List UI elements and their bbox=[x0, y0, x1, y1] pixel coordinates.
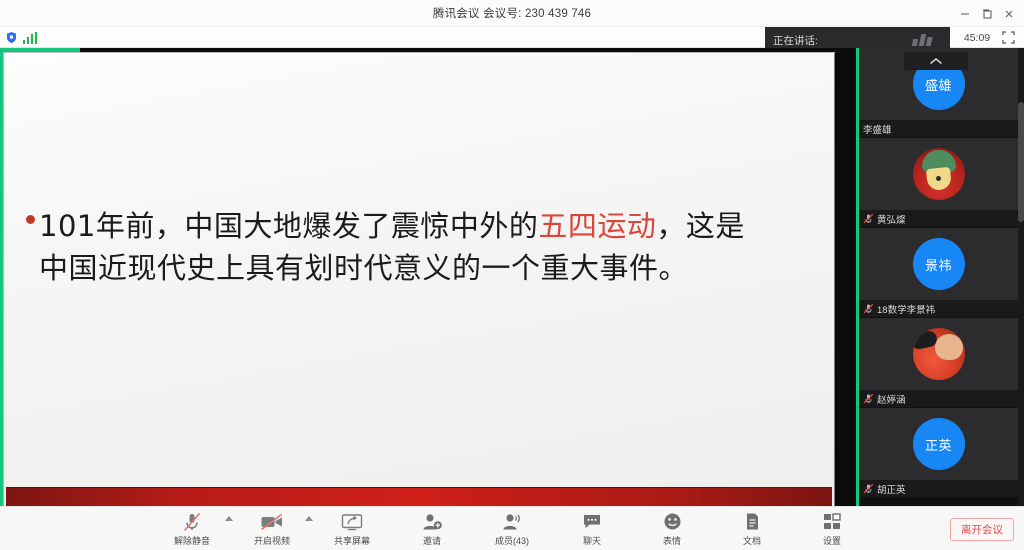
toolbar-item-label: 共享屏幕 bbox=[334, 534, 370, 547]
chat-bubble-icon bbox=[582, 512, 602, 532]
list-item[interactable]: 黄弘燦 bbox=[859, 138, 1018, 227]
page-title: 腾讯会议 会议号: 230 439 746 bbox=[433, 5, 591, 21]
list-item[interactable]: 正英 胡正英 bbox=[859, 408, 1018, 497]
settings-grid-icon bbox=[823, 512, 841, 532]
toolbar-item-label: 成员(43) bbox=[495, 534, 529, 547]
document-icon bbox=[744, 512, 761, 532]
participant-name: 黄弘燦 bbox=[877, 212, 906, 226]
toolbar-item-label: 解除静音 bbox=[174, 534, 210, 547]
participant-name-bar: 李盛雄 bbox=[859, 120, 1018, 137]
slide-text-highlight: 五四运动 bbox=[538, 209, 656, 243]
maximize-button[interactable] bbox=[976, 3, 998, 25]
toolbar-item-label: 设置 bbox=[823, 534, 841, 547]
avatar bbox=[859, 138, 1018, 210]
toolbar-item-label: 邀请 bbox=[423, 534, 441, 547]
close-button[interactable] bbox=[998, 3, 1020, 25]
participant-name: 赵婷涵 bbox=[877, 392, 906, 406]
slide-background bbox=[4, 53, 834, 536]
microphone-muted-icon bbox=[863, 483, 874, 494]
shared-screen-area[interactable]: 101年前，中国大地爆发了震惊中外的五四运动，这是中国近现代史上具有划时代意义的… bbox=[0, 48, 856, 506]
settings-button[interactable]: 设置 bbox=[803, 508, 861, 550]
speaking-label: 正在讲话: bbox=[773, 33, 818, 48]
signal-bars-icon bbox=[23, 32, 37, 44]
microphone-muted-icon bbox=[863, 303, 874, 314]
invite-button[interactable]: 邀请 bbox=[403, 508, 461, 550]
avatar: 景祎 bbox=[859, 228, 1018, 300]
slide-paragraph: 101年前，中国大地爆发了震惊中外的五四运动，这是中国近现代史上具有划时代意义的… bbox=[39, 205, 762, 289]
window-controls bbox=[954, 0, 1020, 27]
participants-button[interactable]: 成员(43) bbox=[483, 508, 541, 550]
participant-name-bar: 赵婷涵 bbox=[859, 390, 1018, 407]
share-screen-button[interactable]: 共享屏幕 bbox=[323, 508, 381, 550]
participant-name: 胡正英 bbox=[877, 482, 906, 496]
toolbar-item-label: 文档 bbox=[743, 534, 761, 547]
video-toggle-button[interactable]: 开启视频 bbox=[243, 508, 301, 550]
chevron-up-icon[interactable] bbox=[305, 516, 313, 521]
bullet-dot-icon bbox=[26, 215, 35, 224]
meeting-toolbar: 解除静音 开启视频 bbox=[0, 506, 1024, 550]
video-off-icon bbox=[260, 512, 284, 532]
toolbar-item-label: 开启视频 bbox=[254, 534, 290, 547]
meeting-window: 腾讯会议 会议号: 230 439 746 正在讲话: bbox=[0, 0, 1024, 550]
list-item[interactable]: 赵婷涵 bbox=[859, 318, 1018, 407]
microphone-muted-icon bbox=[863, 393, 874, 404]
avatar-initials: 景祎 bbox=[913, 238, 965, 290]
presentation-slide: 101年前，中国大地爆发了震惊中外的五四运动，这是中国近现代史上具有划时代意义的… bbox=[4, 53, 834, 536]
slide-edge-shadow bbox=[834, 53, 839, 536]
emoji-button[interactable]: 表情 bbox=[643, 508, 701, 550]
list-item[interactable]: 景祎 18数学李景祎 bbox=[859, 228, 1018, 317]
leave-meeting-button[interactable]: 离开会议 bbox=[950, 518, 1014, 541]
participant-name: 18数学李景祎 bbox=[877, 302, 935, 316]
participants-icon bbox=[502, 512, 522, 532]
emoji-icon bbox=[663, 512, 682, 532]
avatar: 正英 bbox=[859, 408, 1018, 480]
meeting-timer: 45:09 bbox=[958, 30, 996, 45]
toolbar-item-label: 聊天 bbox=[583, 534, 601, 547]
participant-name: 李盛雄 bbox=[863, 122, 892, 136]
invite-user-icon bbox=[422, 512, 442, 532]
chevron-up-icon[interactable] bbox=[904, 52, 968, 70]
participant-name-bar: 胡正英 bbox=[859, 480, 1018, 497]
minimize-button[interactable] bbox=[954, 3, 976, 25]
scrollbar[interactable] bbox=[1018, 48, 1024, 506]
document-button[interactable]: 文档 bbox=[723, 508, 781, 550]
slide-text-block: 101年前，中国大地爆发了震惊中外的五四运动，这是中国近现代史上具有划时代意义的… bbox=[22, 205, 762, 289]
avatar bbox=[859, 318, 1018, 390]
participant-name-bar: 黄弘燦 bbox=[859, 210, 1018, 227]
microphone-muted-icon bbox=[183, 512, 201, 532]
slide-bullet-row: 101年前，中国大地爆发了震惊中外的五四运动，这是中国近现代史上具有划时代意义的… bbox=[22, 205, 762, 289]
toolbar-item-label: 表情 bbox=[663, 534, 681, 547]
avatar-initials: 正英 bbox=[913, 418, 965, 470]
chat-button[interactable]: 聊天 bbox=[563, 508, 621, 550]
participant-tiles: 盛雄 李盛雄 黄弘燦 景祎 bbox=[859, 48, 1018, 506]
participants-sidebar: 盛雄 李盛雄 黄弘燦 景祎 bbox=[856, 48, 1024, 506]
window-titlebar: 腾讯会议 会议号: 230 439 746 bbox=[0, 0, 1024, 27]
sharing-border-top bbox=[0, 48, 80, 52]
avatar-photo bbox=[913, 328, 965, 380]
chevron-up-icon[interactable] bbox=[225, 516, 233, 521]
scrollbar-thumb[interactable] bbox=[1018, 102, 1024, 222]
fullscreen-icon[interactable] bbox=[1000, 29, 1017, 46]
share-screen-icon bbox=[341, 512, 363, 532]
shield-icon[interactable] bbox=[5, 31, 18, 44]
avatar-photo bbox=[913, 148, 965, 200]
mute-toggle-button[interactable]: 解除静音 bbox=[163, 508, 221, 550]
audio-wave-icon bbox=[912, 34, 934, 46]
participant-name-bar: 18数学李景祎 bbox=[859, 300, 1018, 317]
slide-text-part1: 101年前，中国大地爆发了震惊中外的 bbox=[39, 209, 538, 243]
microphone-muted-icon bbox=[863, 213, 874, 224]
